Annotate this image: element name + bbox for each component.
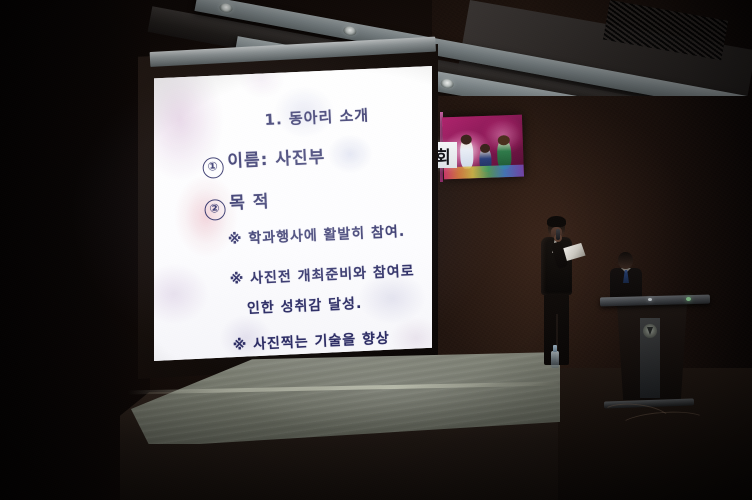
slide-item-1-number: ①: [202, 157, 224, 179]
podium-desktop: [600, 295, 710, 307]
slide-item-2-number: ②: [204, 199, 226, 221]
podium-body: [614, 304, 690, 400]
slide-title: 1. 동아리 소개: [264, 104, 369, 130]
microphone-icon: [556, 229, 560, 240]
slide-bullet-3: ※ 사진찍는 기술을 향상: [232, 328, 390, 355]
presenter-hair: [547, 216, 566, 227]
screen-surface: 1. 동아리 소개 ①이름: 사진부 ②목 적 ※ 학과행사에 활발히 참여. …: [154, 66, 432, 361]
slide-item-2: ②목 적: [204, 187, 271, 221]
slide-bullet-2: ※ 사진전 개최준비와 참여로: [229, 260, 415, 288]
slide-bullet-1: ※ 학과행사에 활발히 참여.: [227, 221, 405, 249]
podium-emblem-icon: [643, 324, 657, 338]
person2-head: [618, 252, 633, 269]
slide-item-1-text: 이름: 사진부: [227, 147, 326, 171]
water-bottle-body: [551, 351, 559, 368]
slide-item-2-text: 목 적: [229, 192, 270, 214]
water-bottle: [551, 345, 559, 368]
ceiling-downlight-icon: [440, 78, 454, 89]
water-bottle-cap: [553, 345, 557, 352]
slide-item-1: ①이름: 사진부: [202, 142, 326, 179]
ceiling-downlight-icon: [219, 2, 233, 13]
slide-bullet-2-cont: 인한 성취감 달성.: [247, 293, 363, 318]
podium-status-light-icon: [686, 297, 691, 301]
podium-indicator-light-icon: [648, 298, 652, 301]
ceiling-downlight-icon: [343, 25, 357, 36]
presentation-room-photo: 회 1. 동아리 소개 ①이름: 사진부 ②목 적 ※ 학과행사에 활발히 참여…: [0, 0, 752, 500]
slide-content: 1. 동아리 소개 ①이름: 사진부 ②목 적 ※ 학과행사에 활발히 참여. …: [154, 66, 432, 361]
projection-screen: 1. 동아리 소개 ①이름: 사진부 ②목 적 ※ 학과행사에 활발히 참여. …: [138, 44, 438, 379]
